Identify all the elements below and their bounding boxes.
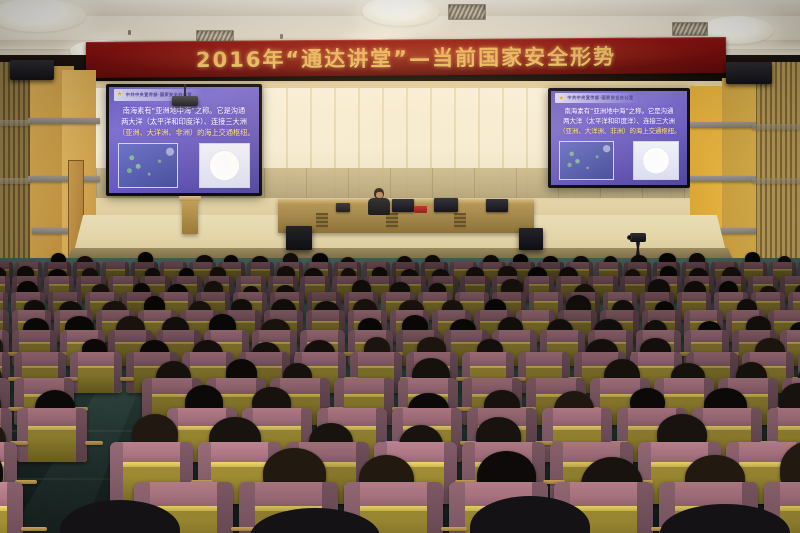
right-wall-band <box>690 176 756 182</box>
seat-armrest <box>85 441 103 445</box>
table-monitor <box>434 198 458 212</box>
south-china-sea-map <box>559 141 613 180</box>
world-polar-map <box>633 141 679 180</box>
auditorium-seat <box>0 482 23 533</box>
seat-side-panel <box>7 482 23 533</box>
right-wall-speaker <box>726 62 772 84</box>
left-wall-band <box>0 178 30 184</box>
banner-title: 2016年“通达讲堂”—当前国家安全形势 <box>196 41 616 74</box>
slide-header-text: 中共中央宣传部·国家安全办公室 <box>567 95 633 101</box>
seat-armrest <box>120 377 134 381</box>
right-wall-acoustic-slats <box>752 62 800 280</box>
seat-armrest <box>441 527 467 531</box>
seat-side-panel <box>427 482 443 533</box>
table-monitor <box>336 203 350 212</box>
presenter-body <box>368 198 390 215</box>
slide-text-block: 南海素有“亚洲地中海”之称。它是沟通 两大洋（太平洋和印度洋）、连接三大洲 （亚… <box>118 105 250 138</box>
hvac-vent <box>448 4 486 20</box>
hvac-vent <box>672 22 708 36</box>
auditorium-seat <box>17 408 87 462</box>
right-wall-band <box>752 124 800 130</box>
slide-line: 两大洋（太平洋和印度洋）、连接三大洲 <box>118 116 250 127</box>
slide-text-block: 南海素有“亚洲地中海”之称。它是沟通 两大洋（太平洋和印度洋）、连接三大洲 （亚… <box>559 107 679 137</box>
lectern[interactable] <box>182 196 198 234</box>
seat-side-panel <box>637 482 653 533</box>
tripod-camera <box>630 233 646 242</box>
seat-trim <box>347 506 440 511</box>
presenter-face <box>376 192 383 198</box>
world-polar-map <box>199 143 250 188</box>
table-monitor <box>392 199 414 212</box>
ceiling-sprinkler <box>128 30 131 35</box>
seat-side-panel <box>449 482 465 533</box>
table-vent <box>454 213 466 229</box>
seat-side-panel <box>110 442 123 504</box>
ceiling-projector <box>172 96 198 106</box>
side-projection-screen[interactable]: ★ 中共中央宣传部·国家安全办公室 南海素有“亚洲地中海”之称。它是沟通 两大洋… <box>548 88 690 188</box>
seat-side-panel <box>126 352 134 393</box>
auditorium-seat <box>70 352 122 393</box>
left-wall-band <box>28 176 100 182</box>
seat-side-panel <box>114 352 122 393</box>
seat-side-panel <box>217 482 233 533</box>
auditorium-scene: 2016年“通达讲堂”—当前国家安全形势 ★ 中共中央宣传部·国家安全办公室 南… <box>0 0 800 533</box>
seat-armrest <box>21 527 47 531</box>
seat-trim <box>112 462 190 466</box>
seat-side-panel <box>17 408 28 462</box>
event-banner: 2016年“通达讲堂”—当前国家安全形势 <box>86 37 726 78</box>
seat-side-panel <box>76 408 87 462</box>
table-vent <box>316 213 328 229</box>
slide-line: 南海素有“亚洲地中海”之称。它是沟通 <box>559 107 679 117</box>
seat-side-panel <box>239 482 255 533</box>
left-wall-band <box>28 118 100 124</box>
right-wall-band <box>752 178 800 184</box>
slide-line: （亚洲、大洋洲、非洲）的海上交通枢纽。 <box>559 127 679 137</box>
slide-line: （亚洲、大洋洲、非洲）的海上交通枢纽。 <box>118 127 250 138</box>
stage-speaker-right <box>519 228 543 250</box>
slide-content: ★ 中共中央宣传部·国家安全办公室 南海素有“亚洲地中海”之称。它是沟通 两大洋… <box>551 91 687 185</box>
stage-speaker-left <box>286 226 312 250</box>
slide-line: 两大洋（太平洋和印度洋）、连接三大洲 <box>559 117 679 127</box>
ceiling-sprinkler <box>280 34 283 39</box>
camera-lens-icon <box>627 235 632 240</box>
right-wall-band <box>690 122 756 128</box>
left-wall-band <box>0 120 30 126</box>
star-icon: ★ <box>117 91 123 98</box>
left-wall-speaker <box>10 60 54 80</box>
table-red-object <box>414 206 427 213</box>
table-monitor <box>486 199 508 212</box>
south-china-sea-map <box>118 143 178 188</box>
slide-line: 南海素有“亚洲地中海”之称。它是沟通 <box>118 105 250 116</box>
table-vent <box>386 213 398 229</box>
lectern-top <box>179 196 201 201</box>
seated-presenter <box>368 188 390 214</box>
star-icon: ★ <box>558 95 564 102</box>
slide-header-badge: ★ 中共中央宣传部·国家安全办公室 <box>555 93 637 103</box>
